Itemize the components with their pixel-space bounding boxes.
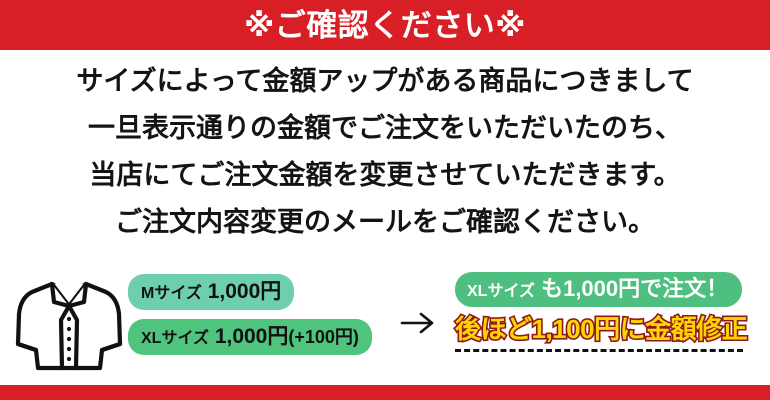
before-price-column: Mサイズ 1,000円 XLサイズ 1,000円(+100円) — [128, 274, 396, 355]
right-arrow-icon — [400, 310, 436, 336]
price-badge-xl-size: XLサイズ 1,000円(+100円) — [128, 319, 372, 355]
notice-line-1: サイズによって金額アップがある商品につきまして — [0, 58, 770, 105]
after-price-column: XLサイズ も1,000円で注文！ 後ほど1,100円に金額修正 — [455, 272, 755, 352]
notice-line-2: 一旦表示通りの金額でご注文をいただいたのち、 — [0, 105, 770, 152]
xl-size-label: XLサイズ — [141, 330, 209, 347]
header-title: ※ご確認ください※ — [244, 10, 526, 41]
correction-note-block: 後ほど1,100円に金額修正 — [455, 315, 747, 352]
m-size-label: Mサイズ — [141, 285, 202, 302]
footer-banner — [0, 385, 770, 400]
price-badge-m-size: Mサイズ 1,000円 — [128, 274, 294, 310]
dashed-underline — [455, 349, 743, 352]
xl-size-surcharge: (+100円) — [288, 327, 359, 347]
order-badge-exclamation: ！ — [706, 276, 728, 301]
header-banner: ※ご確認ください※ — [0, 0, 770, 50]
notice-line-3: 当店にてご注文金額を変更させていただきます。 — [0, 152, 770, 199]
m-size-price: 1,000円 — [208, 280, 282, 303]
xl-size-price: 1,000円 — [215, 325, 289, 348]
notice-line-4: ご注文内容変更のメールをご確認ください。 — [0, 199, 770, 246]
notice-paragraph: サイズによって金額アップがある商品につきまして 一旦表示通りの金額でご注文をいた… — [0, 58, 770, 246]
dress-shirt-icon — [14, 272, 124, 376]
correction-note-text: 後ほど1,100円に金額修正 — [455, 315, 747, 345]
order-confirmation-badge: XLサイズ も1,000円で注文！ — [455, 272, 742, 307]
price-comparison-row: Mサイズ 1,000円 XLサイズ 1,000円(+100円) XLサイズ も1… — [0, 266, 770, 382]
order-badge-size-label: XLサイズ — [467, 283, 535, 300]
order-badge-text: も1,000円で注文 — [535, 276, 706, 301]
